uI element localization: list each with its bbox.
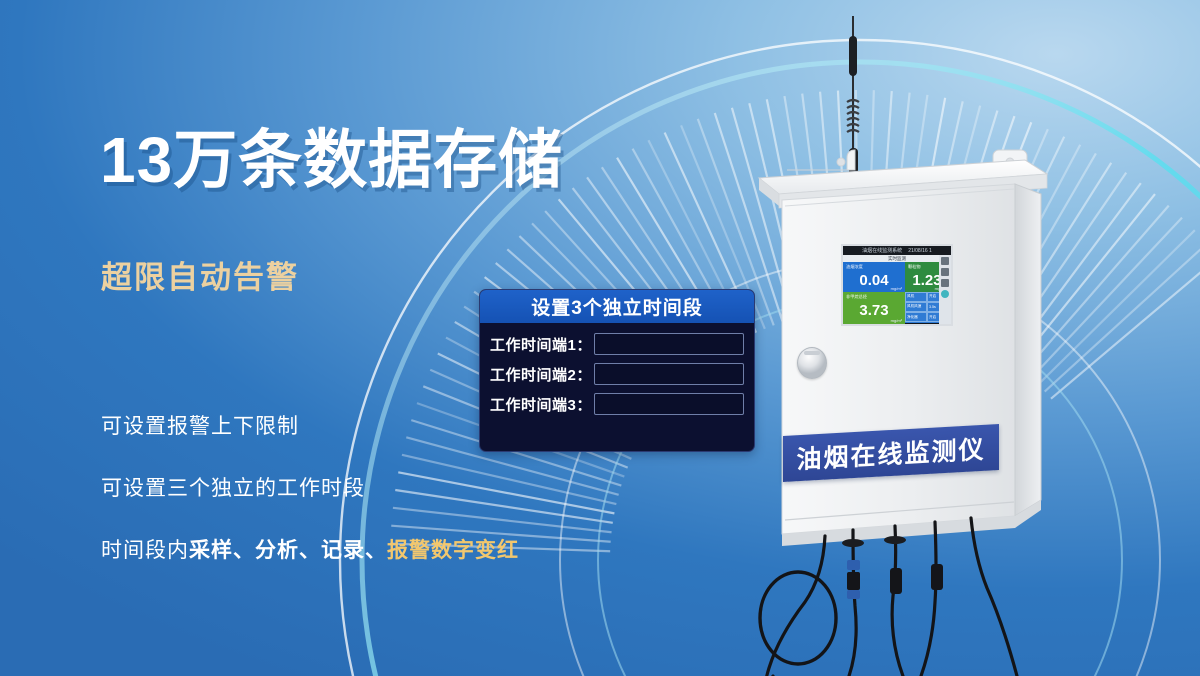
list-item: 时间段内采样、分析、记录、报警数字变红 (101, 534, 519, 564)
time-range-input-2[interactable] (594, 363, 744, 385)
device-lcd-screen: 油烟在线监测系统 21/08/16 1 实时监测 油烟浓度 0.04 mg/m³… (841, 244, 953, 326)
status-cell: 风机风速 (905, 302, 927, 312)
metric-unit: mg/m³ (891, 286, 902, 291)
panel-body: 工作时间端1： 工作时间端2： 工作时间端3： (480, 323, 754, 423)
lcd-header: 油烟在线监测系统 21/08/16 1 (843, 246, 951, 255)
lcd-datetime: 21/08/16 1 (908, 248, 932, 254)
time-range-row-3: 工作时间端3： (490, 393, 744, 415)
metric-tile-oil-smoke: 油烟浓度 0.04 mg/m³ (843, 262, 905, 292)
list-item: 可设置三个独立的工作时段 (101, 472, 519, 502)
lcd-section-title: 实时监测 (843, 255, 951, 262)
promo-banner: 13万条数据存储 超限自动告警 可设置报警上下限制 可设置三个独立的工作时段 时… (0, 0, 1200, 676)
bullet-prefix: 时间段内 (101, 539, 189, 562)
lcd-system-title: 油烟在线监测系统 (862, 247, 902, 254)
time-range-input-1[interactable] (594, 333, 744, 355)
bullet-bold: 采样、分析、记录、 (189, 539, 387, 562)
time-range-label-2: 工作时间端2： (490, 364, 592, 385)
panel-title: 设置3个独立时间段 (480, 290, 754, 323)
time-range-input-3[interactable] (594, 393, 744, 415)
feature-list: 可设置报警上下限制 可设置三个独立的工作时段 时间段内采样、分析、记录、报警数字… (101, 410, 519, 596)
page-subtitle: 超限自动告警 (101, 252, 299, 297)
device-side-panel (1015, 184, 1041, 516)
status-cell: 风机 (905, 292, 927, 302)
lcd-sidebar-icons (939, 255, 951, 326)
bullet-highlight: 报警数字变红 (387, 539, 519, 562)
page-title: 13万条数据存储 (100, 128, 563, 192)
time-range-label-1: 工作时间端1： (490, 334, 592, 355)
time-range-row-2: 工作时间端2： (490, 363, 744, 385)
metric-label: 非甲烷总烃 (846, 294, 902, 300)
settings-gear-icon[interactable] (941, 290, 949, 298)
list-item: 可设置报警上下限制 (101, 410, 519, 440)
time-settings-panel: 设置3个独立时间段 工作时间端1： 工作时间端2： 工作时间端3： (479, 289, 755, 452)
history-icon[interactable] (941, 268, 949, 276)
cable-connectors (842, 536, 943, 599)
status-cell: 净化器 (905, 312, 927, 322)
metric-unit: mg/m³ (891, 318, 902, 323)
chart-icon[interactable] (941, 279, 949, 287)
device-illustration (735, 0, 1065, 676)
metric-value: 3.73 (846, 303, 902, 318)
time-range-row-1: 工作时间端1： (490, 333, 744, 355)
metric-label: 油烟浓度 (846, 264, 902, 270)
time-range-label-3: 工作时间端3： (490, 394, 592, 415)
metric-tile-nmhc: 非甲烷总烃 3.73 mg/m³ (843, 292, 905, 325)
lcd-metric-grid: 油烟浓度 0.04 mg/m³ 颗粒物 1.23 mg/m³ 非甲烷总烃 3.7… (843, 262, 951, 324)
home-icon[interactable] (941, 257, 949, 265)
door-lock-knob[interactable] (797, 347, 827, 379)
cable-loop (760, 572, 836, 664)
